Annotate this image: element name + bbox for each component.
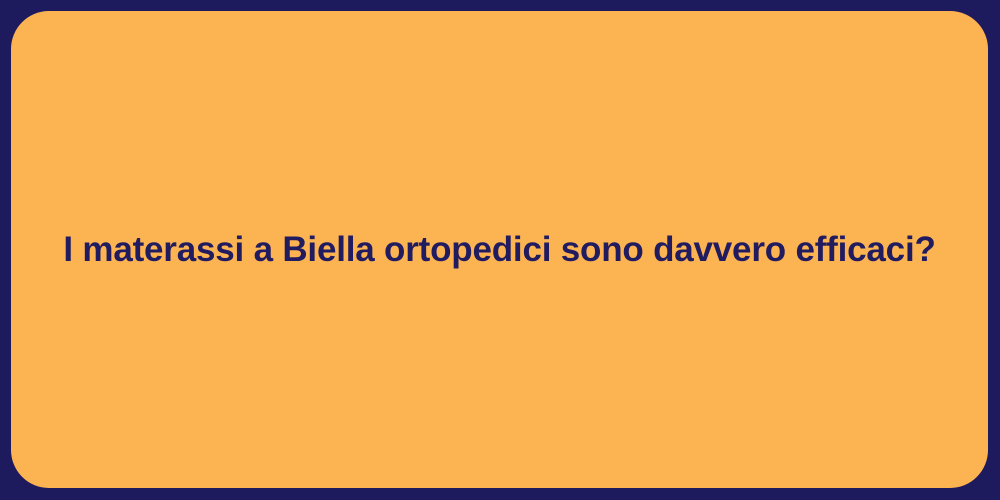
page-title: I materassi a Biella ortopedici sono dav… <box>11 228 988 272</box>
card-panel: I materassi a Biella ortopedici sono dav… <box>11 11 988 488</box>
card-frame: I materassi a Biella ortopedici sono dav… <box>0 0 1000 500</box>
